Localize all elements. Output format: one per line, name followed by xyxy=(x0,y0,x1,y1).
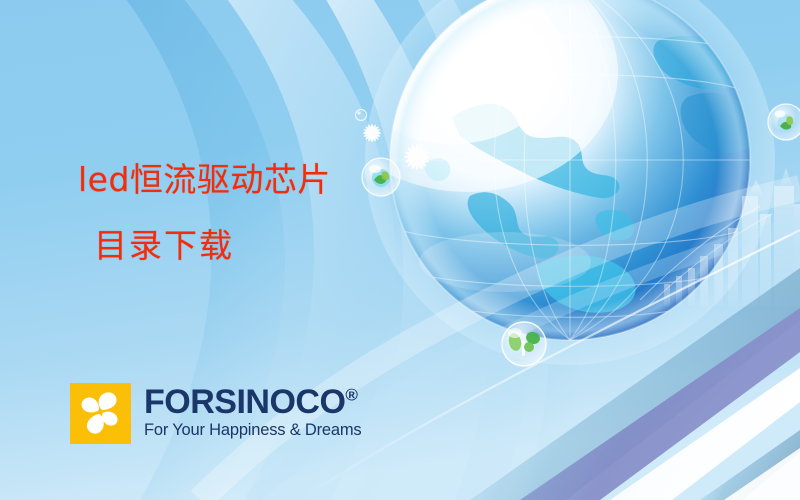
bubble-globe-icon xyxy=(362,158,400,196)
bubble-sprout-icon xyxy=(502,322,546,366)
globe-graphic xyxy=(318,0,758,340)
brand-name-text: FORSINOCO xyxy=(144,383,345,421)
sparkle-icon xyxy=(363,124,381,142)
title-line-1: led恒流驱动芯片 xyxy=(78,160,331,200)
bubble-globe-icon xyxy=(768,104,800,140)
registered-mark: ® xyxy=(345,386,358,405)
page-title: led恒流驱动芯片 目录下载 xyxy=(78,160,331,267)
brand-wordmark: FORSINOCO® For Your Happiness & Dreams xyxy=(144,383,361,439)
bubble-small-icon xyxy=(356,110,367,121)
four-petal-pinwheel-icon xyxy=(70,383,131,444)
banner-image: led恒流驱动芯片 目录下载 FORSINOCO® For Your Happi… xyxy=(0,0,800,500)
brand-name: FORSINOCO® xyxy=(144,385,361,419)
city-skyline-icon xyxy=(664,168,800,306)
title-line-2: 目录下载 xyxy=(78,226,331,266)
brand-tagline: For Your Happiness & Dreams xyxy=(144,422,361,439)
brand-logo: FORSINOCO® For Your Happiness & Dreams xyxy=(70,383,361,444)
sparkle-icon xyxy=(404,144,430,170)
